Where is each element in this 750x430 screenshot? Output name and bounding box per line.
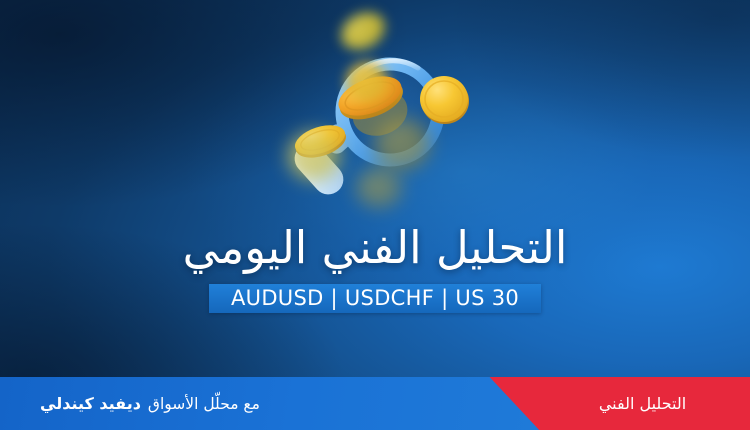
instruments-badge: AUDUSD | USDCHF | US 30 bbox=[209, 284, 541, 313]
page-title: التحليل الفني اليومي bbox=[0, 222, 750, 274]
footer-analyst-prefix: مع محلّل الأسواق bbox=[148, 395, 260, 413]
footer-bar: مع محلّل الأسواق ديفيد كيندلي التحليل ال… bbox=[0, 377, 750, 430]
footer-analyst-name: ديفيد كيندلي bbox=[40, 394, 141, 413]
hero-illustration bbox=[268, 0, 498, 210]
footer-category-label: التحليل الفني bbox=[535, 377, 750, 430]
instruments-badge-wrap: AUDUSD | USDCHF | US 30 bbox=[0, 284, 750, 313]
promo-banner: التحليل الفني اليومي AUDUSD | USDCHF | U… bbox=[0, 0, 750, 430]
footer-analyst-block: مع محلّل الأسواق ديفيد كيندلي bbox=[0, 377, 300, 430]
coin-blur-bottom-icon bbox=[356, 168, 402, 208]
coin-blur-upper-icon bbox=[346, 62, 388, 102]
coin-blur-left-icon bbox=[288, 132, 340, 180]
coin-blur-center-icon bbox=[374, 118, 430, 170]
